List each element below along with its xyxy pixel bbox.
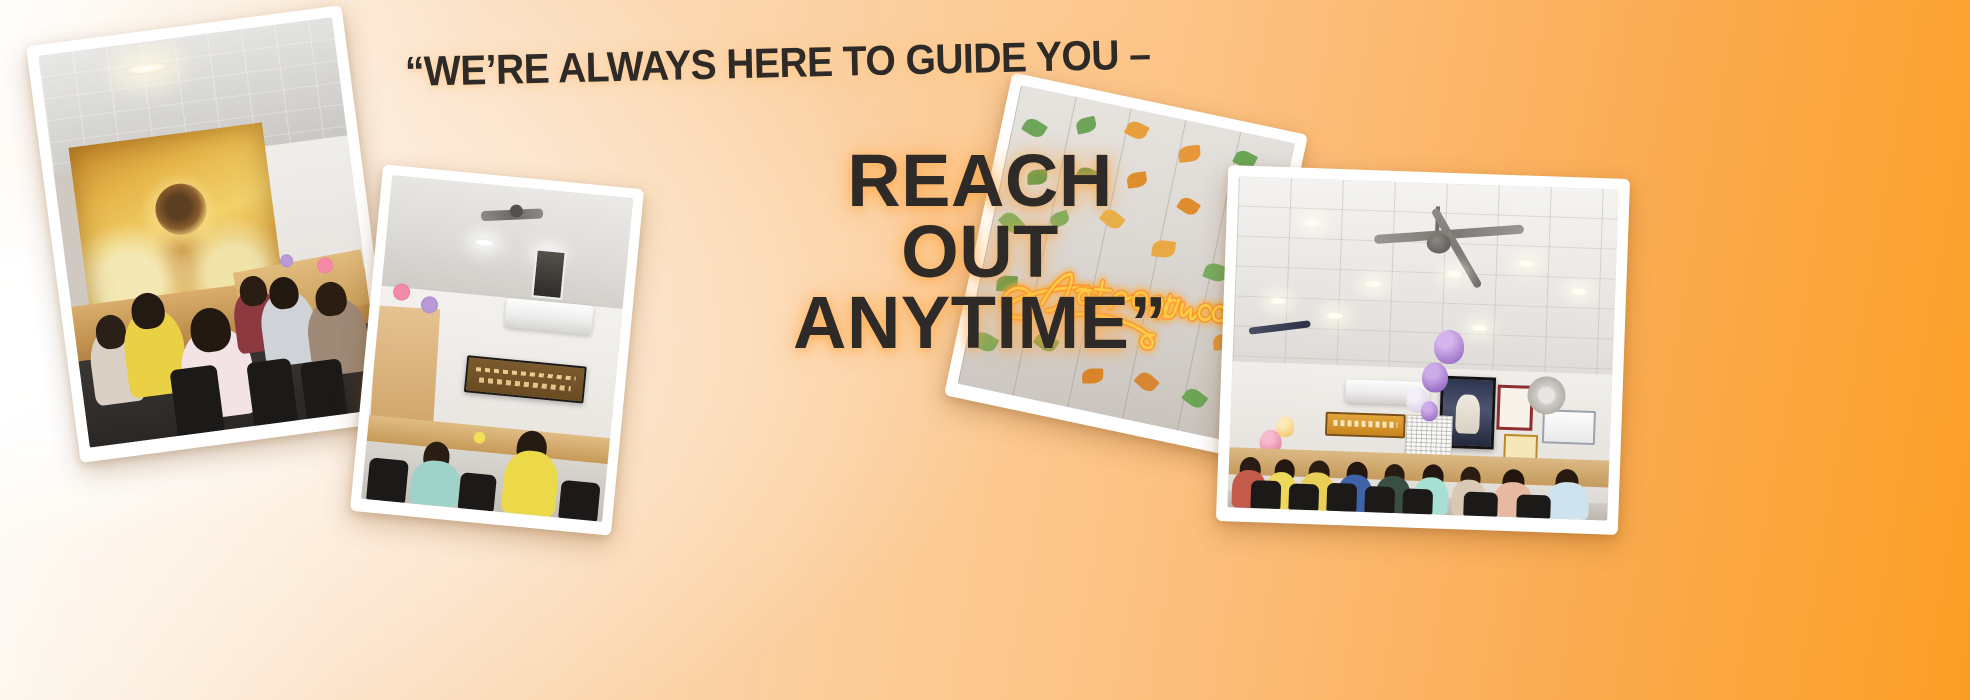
photo-2-image (361, 175, 633, 522)
photo-1-image (38, 17, 383, 447)
photo-classroom-krishna-mural (26, 5, 396, 463)
promo-banner: “WE’RE ALWAYS HERE TO GUIDE YOU – REACH … (0, 0, 1970, 700)
photo-classroom-fan-balloons (1216, 165, 1630, 535)
wall-banner (1325, 411, 1406, 438)
photo-classroom-ac-plaque (350, 164, 644, 536)
photo-4-image (1227, 176, 1618, 520)
